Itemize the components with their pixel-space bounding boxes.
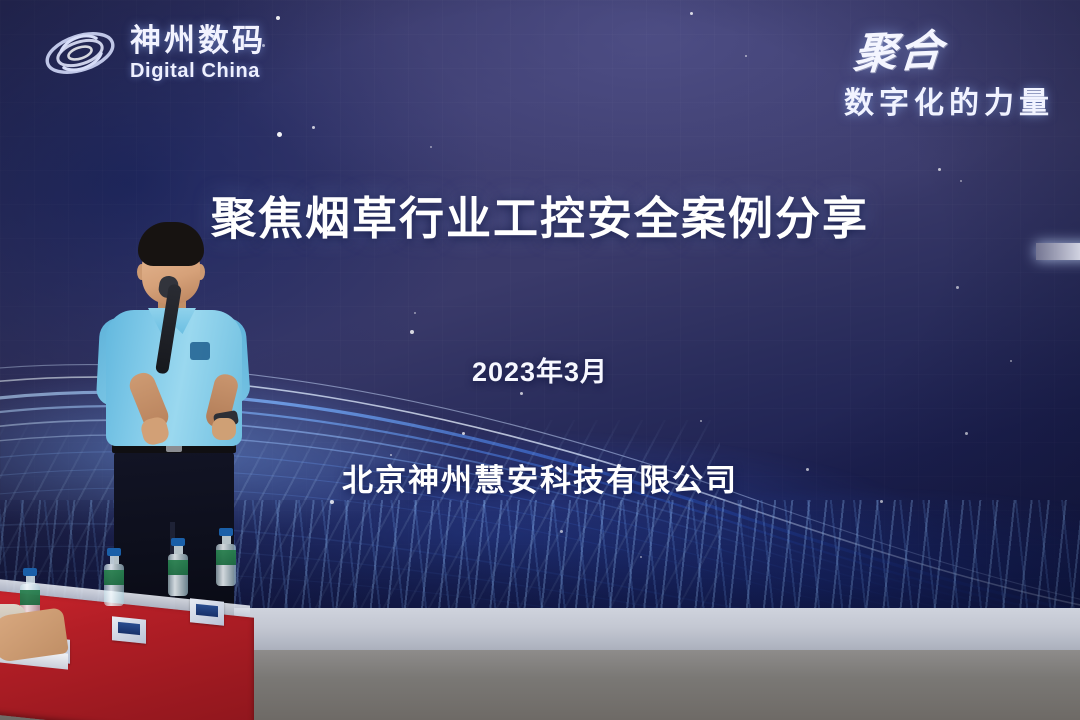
logo-chinese-name: 神州数码 <box>130 25 266 56</box>
name-card <box>190 598 224 626</box>
brand-logo-digital-china: 神州数码 Digital China <box>42 20 266 86</box>
conference-photo: 神州数码 Digital China 聚合 数字化的力量 聚焦烟草行业工控安全案… <box>0 0 1080 720</box>
event-logo-juhe: 聚合 数字化的力量 <box>844 18 1054 122</box>
speaker-hair <box>138 222 204 266</box>
water-bottle <box>168 538 188 596</box>
digital-china-swirl-icon <box>42 20 118 86</box>
speaker-shirt-logo <box>190 342 210 360</box>
screen-edge-light-bar <box>1036 243 1080 260</box>
event-logo-subtitle: 数字化的力量 <box>844 78 1054 122</box>
water-bottle <box>104 548 124 606</box>
speaker-right-hand <box>212 418 236 440</box>
event-logo-brush-text: 聚合 <box>841 16 946 82</box>
water-bottle <box>216 528 236 586</box>
logo-english-name: Digital China <box>130 61 266 81</box>
name-card <box>112 616 146 644</box>
